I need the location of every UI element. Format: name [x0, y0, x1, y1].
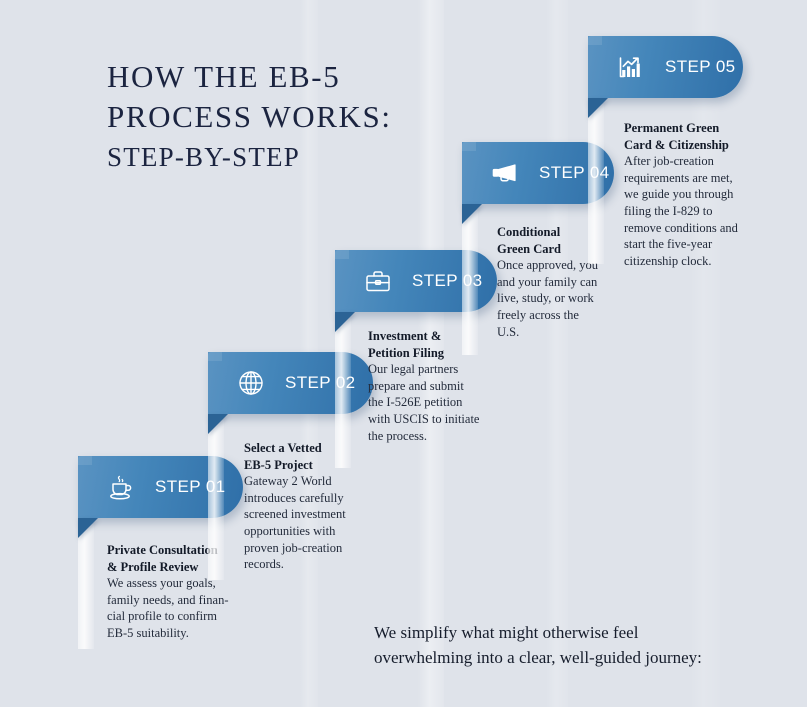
- step-item-1: STEP 01: [78, 456, 243, 518]
- step-desc-2-line: proven job-creation: [244, 540, 374, 557]
- step-desc-4-line: Once approved, you: [497, 257, 629, 274]
- step-label-3: STEP 03: [412, 271, 483, 291]
- step-desc-5-line: After job-creation: [624, 153, 764, 170]
- footer-caption: We simplify what might otherwise feel ov…: [374, 621, 774, 670]
- step-label-2: STEP 02: [285, 373, 356, 393]
- step-fold-2: [208, 414, 228, 434]
- step-item-5: STEP 05: [588, 36, 743, 98]
- step-item-4: STEP 04: [462, 142, 614, 204]
- step-heading-5-line-2: Card & Citizenship: [624, 137, 764, 154]
- step-heading-1-line-1: Private Consultation: [107, 542, 237, 559]
- step-fold-3: [335, 312, 355, 332]
- step-desc-5-line: requirements are met,: [624, 170, 764, 187]
- step-body-4: Conditional Green Card Once approved, yo…: [497, 224, 629, 340]
- infographic-canvas: HOW THE EB-5 PROCESS WORKS: STEP-BY-STEP…: [0, 0, 807, 707]
- step-desc-2-line: introduces carefully: [244, 490, 374, 507]
- step-heading-3-line-2: Petition Filing: [368, 345, 500, 362]
- title-line-1: HOW THE EB-5: [107, 57, 392, 97]
- step-desc-1-line: family needs, and finan-: [107, 592, 237, 609]
- step-item-3: STEP 03: [335, 250, 497, 312]
- step-desc-2-line: screened investment: [244, 506, 374, 523]
- step-banner-1[interactable]: STEP 01: [78, 456, 243, 518]
- step-label-5: STEP 05: [665, 57, 736, 77]
- globe-icon: [234, 366, 268, 400]
- footer-line-2: overwhelming into a clear, well-guided j…: [374, 646, 774, 671]
- step-desc-1-line: cial profile to confirm: [107, 608, 237, 625]
- step-label-4: STEP 04: [539, 163, 610, 183]
- briefcase-icon: [361, 264, 395, 298]
- background-band: [690, 0, 720, 707]
- step-desc-4-line: freely across the: [497, 307, 629, 324]
- step-desc-3-line: the I-526E petition: [368, 394, 500, 411]
- step-desc-5-line: remove conditions and: [624, 220, 764, 237]
- step-banner-4[interactable]: STEP 04: [462, 142, 614, 204]
- step-column-1: [78, 524, 94, 649]
- title-line-3: STEP-BY-STEP: [107, 140, 392, 175]
- coffee-cup-icon: [104, 470, 138, 504]
- growth-chart-icon: [614, 50, 648, 84]
- step-desc-4-line: and your family can: [497, 274, 629, 291]
- step-body-3: Investment & Petition Filing Our legal p…: [368, 328, 500, 444]
- step-desc-1-line: EB-5 suitability.: [107, 625, 237, 642]
- step-desc-5-line: we guide you through: [624, 186, 764, 203]
- step-desc-5-line: filing the I-829 to: [624, 203, 764, 220]
- step-heading-4-line-2: Green Card: [497, 241, 629, 258]
- step-heading-1-line-2: & Profile Review: [107, 559, 237, 576]
- step-heading-2-line-1: Select a Vetted: [244, 440, 374, 457]
- step-desc-2-line: records.: [244, 556, 374, 573]
- step-body-1: Private Consultation & Profile Review We…: [107, 542, 237, 642]
- step-desc-3-line: Our legal partners: [368, 361, 500, 378]
- step-desc-3-line: prepare and submit: [368, 378, 500, 395]
- step-desc-5-line: citizenship clock.: [624, 253, 764, 270]
- footer-line-1: We simplify what might otherwise feel: [374, 621, 774, 646]
- step-label-1: STEP 01: [155, 477, 226, 497]
- step-fold-1: [78, 518, 98, 538]
- step-fold-5: [588, 98, 608, 118]
- step-body-2: Select a Vetted EB-5 Project Gateway 2 W…: [244, 440, 374, 573]
- step-heading-2-line-2: EB-5 Project: [244, 457, 374, 474]
- step-desc-3-line: the process.: [368, 428, 500, 445]
- step-heading-4-line-1: Conditional: [497, 224, 629, 241]
- step-desc-5-line: start the five-year: [624, 236, 764, 253]
- step-item-2: STEP 02: [208, 352, 373, 414]
- step-heading-5-line-1: Permanent Green: [624, 120, 764, 137]
- step-banner-3[interactable]: STEP 03: [335, 250, 497, 312]
- step-fold-4: [462, 204, 482, 224]
- step-banner-5[interactable]: STEP 05: [588, 36, 743, 98]
- page-title: HOW THE EB-5 PROCESS WORKS: STEP-BY-STEP: [107, 57, 392, 175]
- title-line-2: PROCESS WORKS:: [107, 97, 392, 137]
- step-body-5: Permanent Green Card & Citizenship After…: [624, 120, 764, 269]
- step-desc-4-line: U.S.: [497, 324, 629, 341]
- megaphone-icon: [488, 156, 522, 190]
- step-desc-1-line: We assess your goals,: [107, 575, 237, 592]
- step-desc-2-line: opportunities with: [244, 523, 374, 540]
- background-band: [546, 0, 568, 707]
- step-desc-3-line: with USCIS to initiate: [368, 411, 500, 428]
- step-desc-4-line: live, study, or work: [497, 290, 629, 307]
- step-heading-3-line-1: Investment &: [368, 328, 500, 345]
- step-banner-2[interactable]: STEP 02: [208, 352, 373, 414]
- step-desc-2-line: Gateway 2 World: [244, 473, 374, 490]
